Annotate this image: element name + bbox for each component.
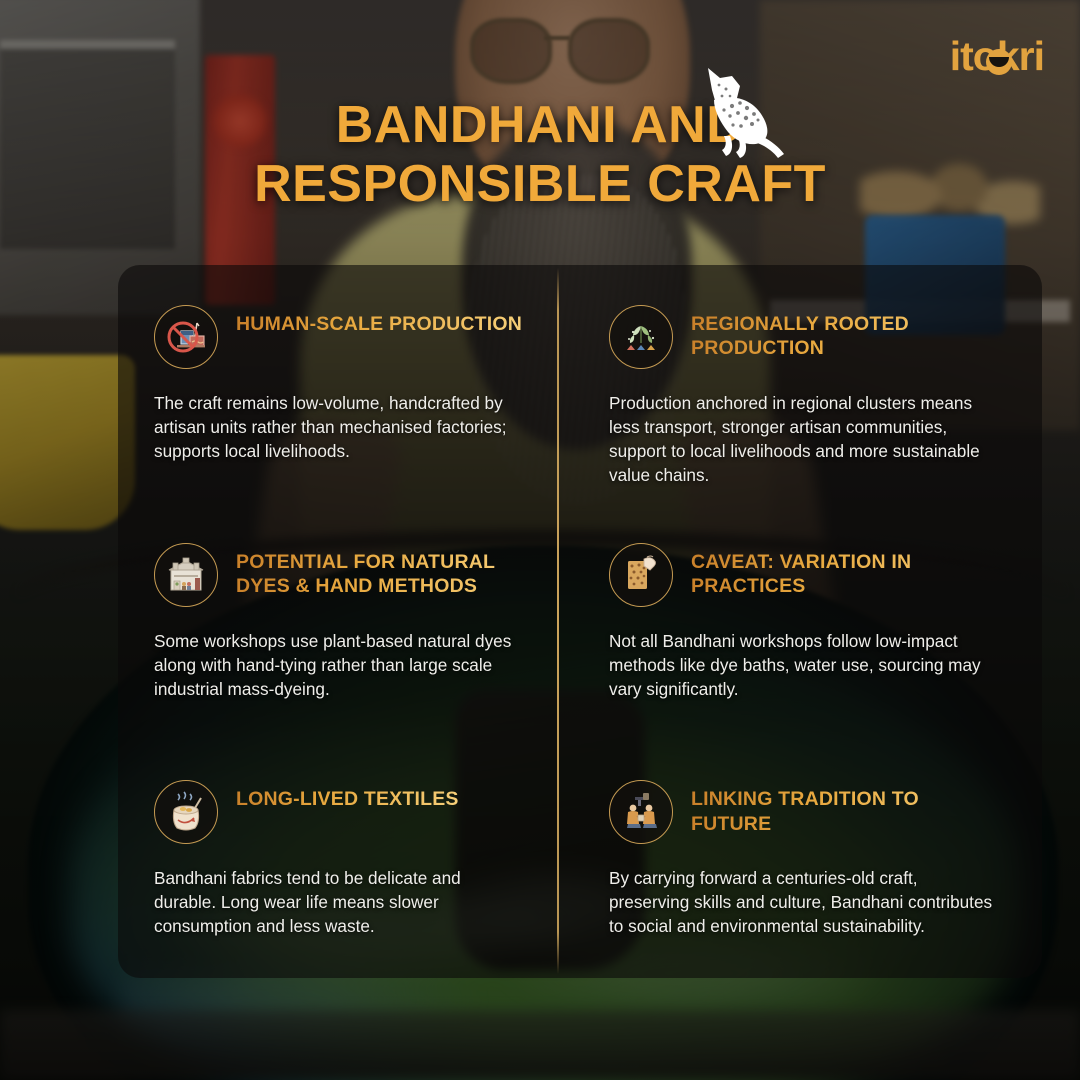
herbs-and-dye-powders-icon xyxy=(609,305,673,369)
card-title: LONG-LIVED TEXTILES xyxy=(236,780,459,811)
card-potential-for-natural-dyes: POTENTIAL FOR NATURAL DYES & HAND METHOD… xyxy=(118,503,557,741)
card-body: By carrying forward a centuries-old craf… xyxy=(609,866,998,938)
card-title: LINKING TRADITION TO FUTURE xyxy=(691,780,998,836)
card-human-scale-production: HUMAN-SCALE PRODUCTION The craft remains… xyxy=(118,265,557,503)
card-body: Bandhani fabrics tend to be delicate and… xyxy=(154,866,523,938)
no-factory-icon xyxy=(154,305,218,369)
card-title: CAVEAT: VARIATION IN PRACTICES xyxy=(691,543,998,599)
cards-grid: HUMAN-SCALE PRODUCTION The craft remains… xyxy=(118,265,1042,978)
card-header: HUMAN-SCALE PRODUCTION xyxy=(154,305,523,369)
steaming-dye-pot-icon xyxy=(154,780,218,844)
card-title: REGIONALLY ROOTED PRODUCTION xyxy=(691,305,998,361)
card-header: POTENTIAL FOR NATURAL DYES & HAND METHOD… xyxy=(154,543,523,607)
card-linking-tradition-to-future: LINKING TRADITION TO FUTURE By carrying … xyxy=(557,740,1042,978)
card-title: HUMAN-SCALE PRODUCTION xyxy=(236,305,522,336)
infographic-canvas: itokri BANDHANI AND RESPONSIBLE CRAFT xyxy=(0,0,1080,1080)
title-line-2: RESPONSIBLE CRAFT xyxy=(0,155,1080,214)
card-title: POTENTIAL FOR NATURAL DYES & HAND METHOD… xyxy=(236,543,523,599)
card-header: CAVEAT: VARIATION IN PRACTICES xyxy=(609,543,998,607)
hand-holding-fabric-icon xyxy=(609,543,673,607)
brand-logo[interactable]: itokri xyxy=(950,36,1044,77)
card-body: The craft remains low-volume, handcrafte… xyxy=(154,391,523,463)
card-header: LONG-LIVED TEXTILES xyxy=(154,780,523,844)
title-line-1: BANDHANI AND xyxy=(0,96,1080,155)
card-body: Some workshops use plant-based natural d… xyxy=(154,629,523,701)
card-body: Not all Bandhani workshops follow low-im… xyxy=(609,629,998,701)
card-header: REGIONALLY ROOTED PRODUCTION xyxy=(609,305,998,369)
page-title: BANDHANI AND RESPONSIBLE CRAFT xyxy=(0,96,1080,214)
two-artisans-icon xyxy=(609,780,673,844)
card-caveat-variation-in-practices: CAVEAT: VARIATION IN PRACTICES Not all B… xyxy=(557,503,1042,741)
card-regionally-rooted-production: REGIONALLY ROOTED PRODUCTION Production … xyxy=(557,265,1042,503)
basket-logo-icon xyxy=(986,49,1012,75)
card-long-lived-textiles: LONG-LIVED TEXTILES Bandhani fabrics ten… xyxy=(118,740,557,978)
workshop-building-icon xyxy=(154,543,218,607)
card-header: LINKING TRADITION TO FUTURE xyxy=(609,780,998,844)
card-body: Production anchored in regional clusters… xyxy=(609,391,998,487)
